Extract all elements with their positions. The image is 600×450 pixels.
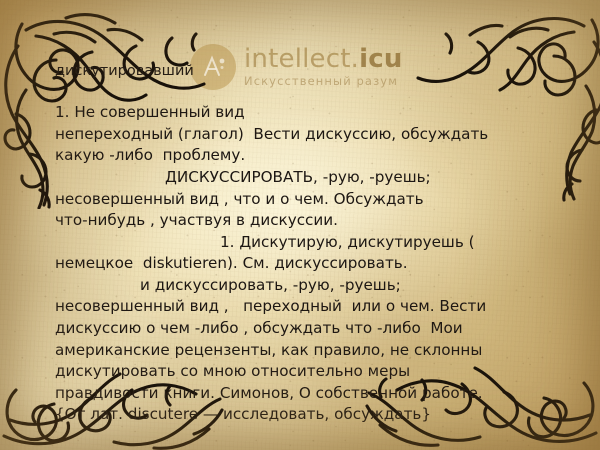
text-line: 1. Не совершенный вид: [55, 102, 582, 124]
text-line: дискуссию о чем -либо , обсуждать что -л…: [55, 318, 582, 340]
text-line: несовершенный вид , что и о чем. Обсужда…: [55, 189, 582, 211]
text-line: несовершенный вид , переходный или о чем…: [55, 296, 582, 318]
text-line: дискутировать со мною относительно меры: [55, 361, 582, 383]
text-line: что-нибудь , участвуя в дискуссии.: [55, 210, 582, 232]
text-line: 1. Дискутирую, дискутируешь (: [55, 232, 582, 254]
text-line: непереходный (глагол) Вести дискуссию, о…: [55, 124, 582, 146]
text-line: какую -либо проблему.: [55, 145, 582, 167]
headword: дискутировавший: [55, 62, 582, 80]
document-text: дискутировавший 1. Не совершенный вид не…: [0, 0, 600, 426]
text-line: {От лат. discutere — исследовать, обсужд…: [55, 404, 582, 426]
definition-body: 1. Не совершенный вид непереходный (глаг…: [55, 102, 582, 426]
text-line: ДИСКУССИРОВАТЬ, -рую, -руешь;: [55, 167, 582, 189]
text-line: и дискуссировать, -рую, -руешь;: [55, 275, 582, 297]
text-line: американские рецензенты, как правило, не…: [55, 340, 582, 362]
text-line: немецкое diskutieren). См. дискуссироват…: [55, 253, 582, 275]
document-page: intellect.icu Искусственный разум: [0, 0, 600, 450]
text-line: правдивости книги. Симонов, О собственно…: [55, 383, 582, 405]
